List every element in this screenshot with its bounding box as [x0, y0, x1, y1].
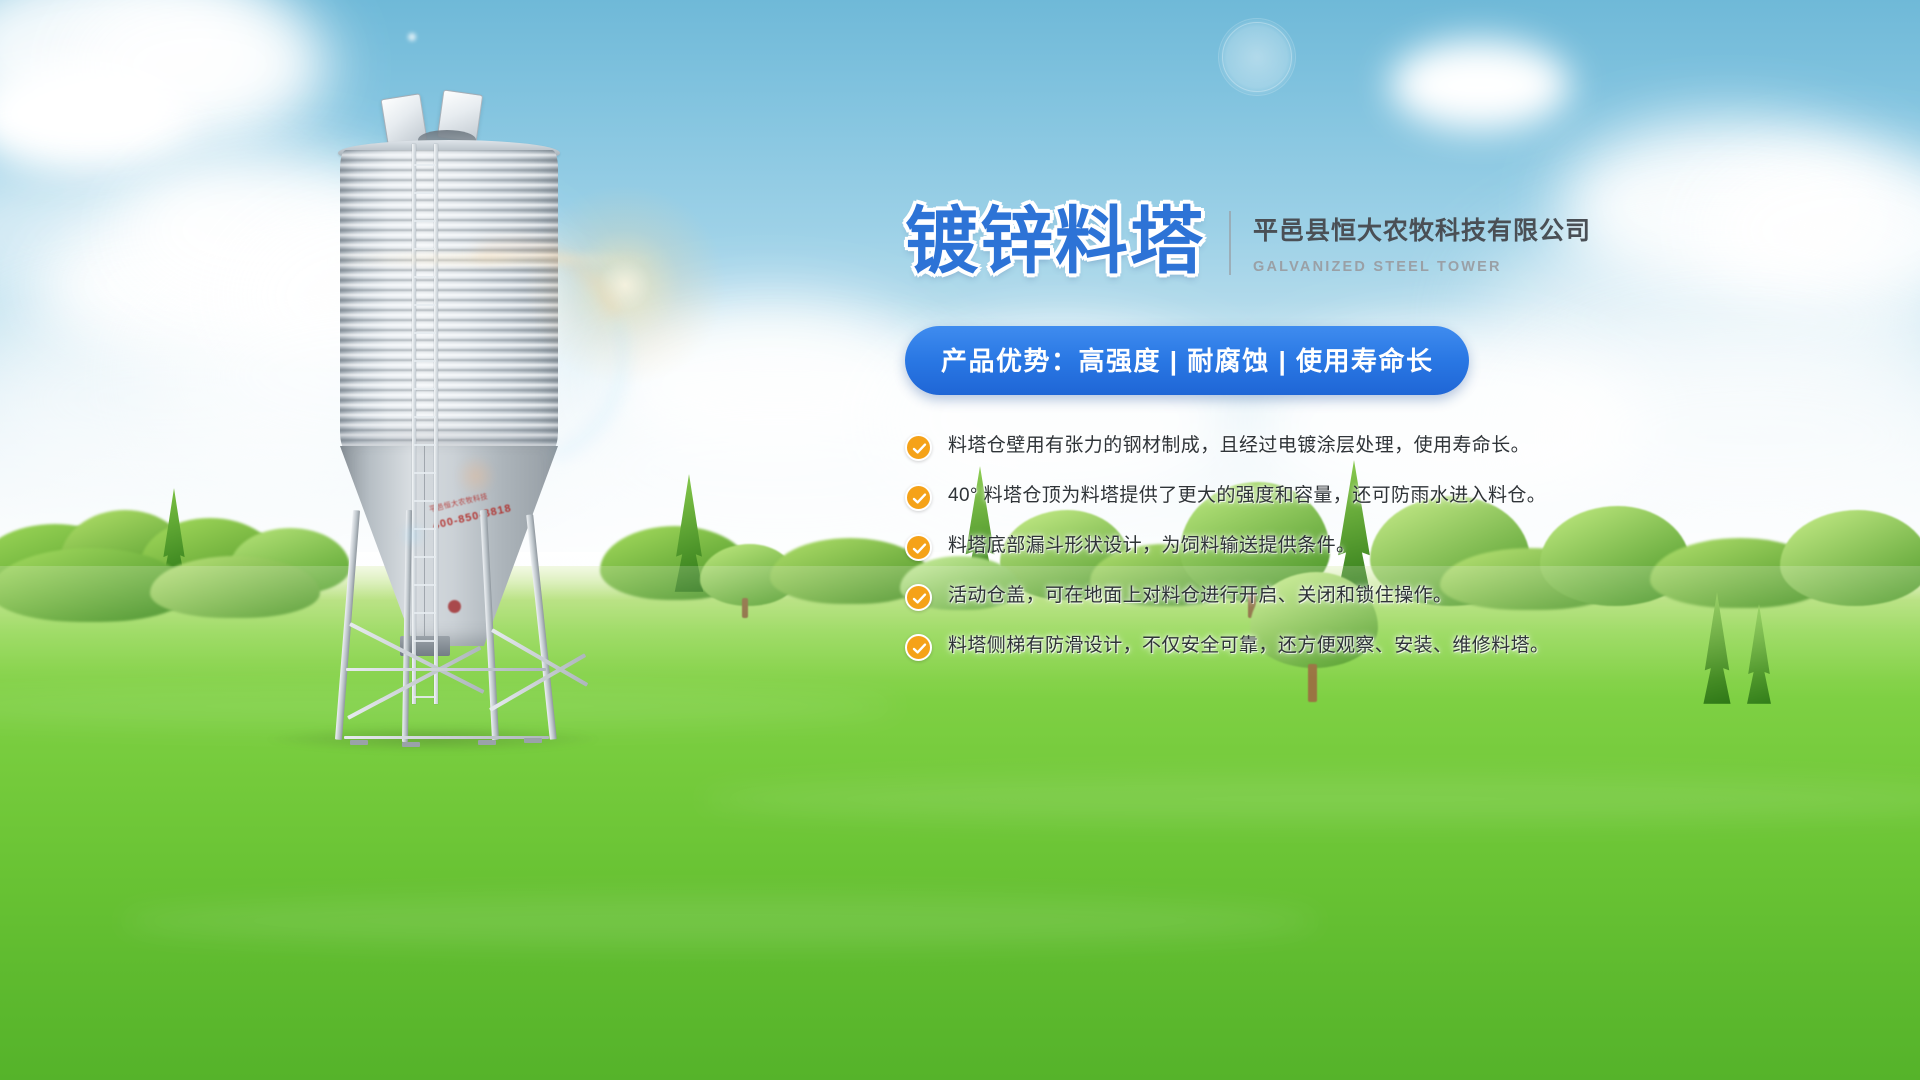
sun-flare-ring	[1222, 22, 1292, 92]
advantage-badge: 产品优势：高强度 | 耐腐蚀 | 使用寿命长	[905, 326, 1469, 395]
lens-speck-icon	[408, 33, 416, 41]
check-circle-icon	[905, 484, 932, 511]
check-circle-icon	[905, 584, 932, 611]
list-item: 活动仓盖，可在地面上对料仓进行开启、关闭和锁住操作。	[905, 583, 1705, 611]
feature-text: 活动仓盖，可在地面上对料仓进行开启、关闭和锁住操作。	[948, 583, 1452, 609]
company-block: 平邑县恒大农牧科技有限公司 GALVANIZED STEEL TOWER	[1253, 205, 1591, 275]
list-item: 料塔底部漏斗形状设计，为饲料输送提供条件。	[905, 533, 1705, 561]
feature-text: 料塔侧梯有防滑设计，不仅安全可靠，还方便观察、安装、维修料塔。	[948, 633, 1549, 659]
feature-text: 料塔底部漏斗形状设计，为饲料输送提供条件。	[948, 533, 1355, 559]
company-subtitle: GALVANIZED STEEL TOWER	[1253, 259, 1591, 275]
feature-list: 料塔仓壁用有张力的钢材制成，且经过电镀涂层处理，使用寿命长。 40° 料塔仓顶为…	[905, 433, 1705, 661]
check-circle-icon	[905, 434, 932, 461]
silo-barrel	[340, 150, 558, 450]
feature-text: 40° 料塔仓顶为料塔提供了更大的强度和容量，还可防雨水进入料仓。	[948, 483, 1546, 509]
list-item: 料塔仓壁用有张力的钢材制成，且经过电镀涂层处理，使用寿命长。	[905, 433, 1705, 461]
galvanized-feed-silo-image: 平邑恒大农牧科技 400-850-8818	[300, 88, 610, 748]
hero-banner: 平邑恒大农牧科技 400-850-8818	[0, 0, 1920, 1080]
company-name: 平邑县恒大农牧科技有限公司	[1253, 211, 1591, 247]
list-item: 40° 料塔仓顶为料塔提供了更大的强度和容量，还可防雨水进入料仓。	[905, 483, 1705, 511]
feature-text: 料塔仓壁用有张力的钢材制成，且经过电镀涂层处理，使用寿命长。	[948, 433, 1530, 459]
silo-support-legs	[300, 518, 610, 748]
title-divider	[1229, 211, 1231, 275]
check-circle-icon	[905, 534, 932, 561]
check-circle-icon	[905, 634, 932, 661]
list-item: 料塔侧梯有防滑设计，不仅安全可靠，还方便观察、安装、维修料塔。	[905, 633, 1705, 661]
hero-text-block: 镀锌料塔 平邑县恒大农牧科技有限公司 GALVANIZED STEEL TOWE…	[905, 205, 1705, 661]
page-title: 镀锌料塔	[905, 205, 1205, 278]
title-row: 镀锌料塔 平邑县恒大农牧科技有限公司 GALVANIZED STEEL TOWE…	[905, 205, 1705, 278]
